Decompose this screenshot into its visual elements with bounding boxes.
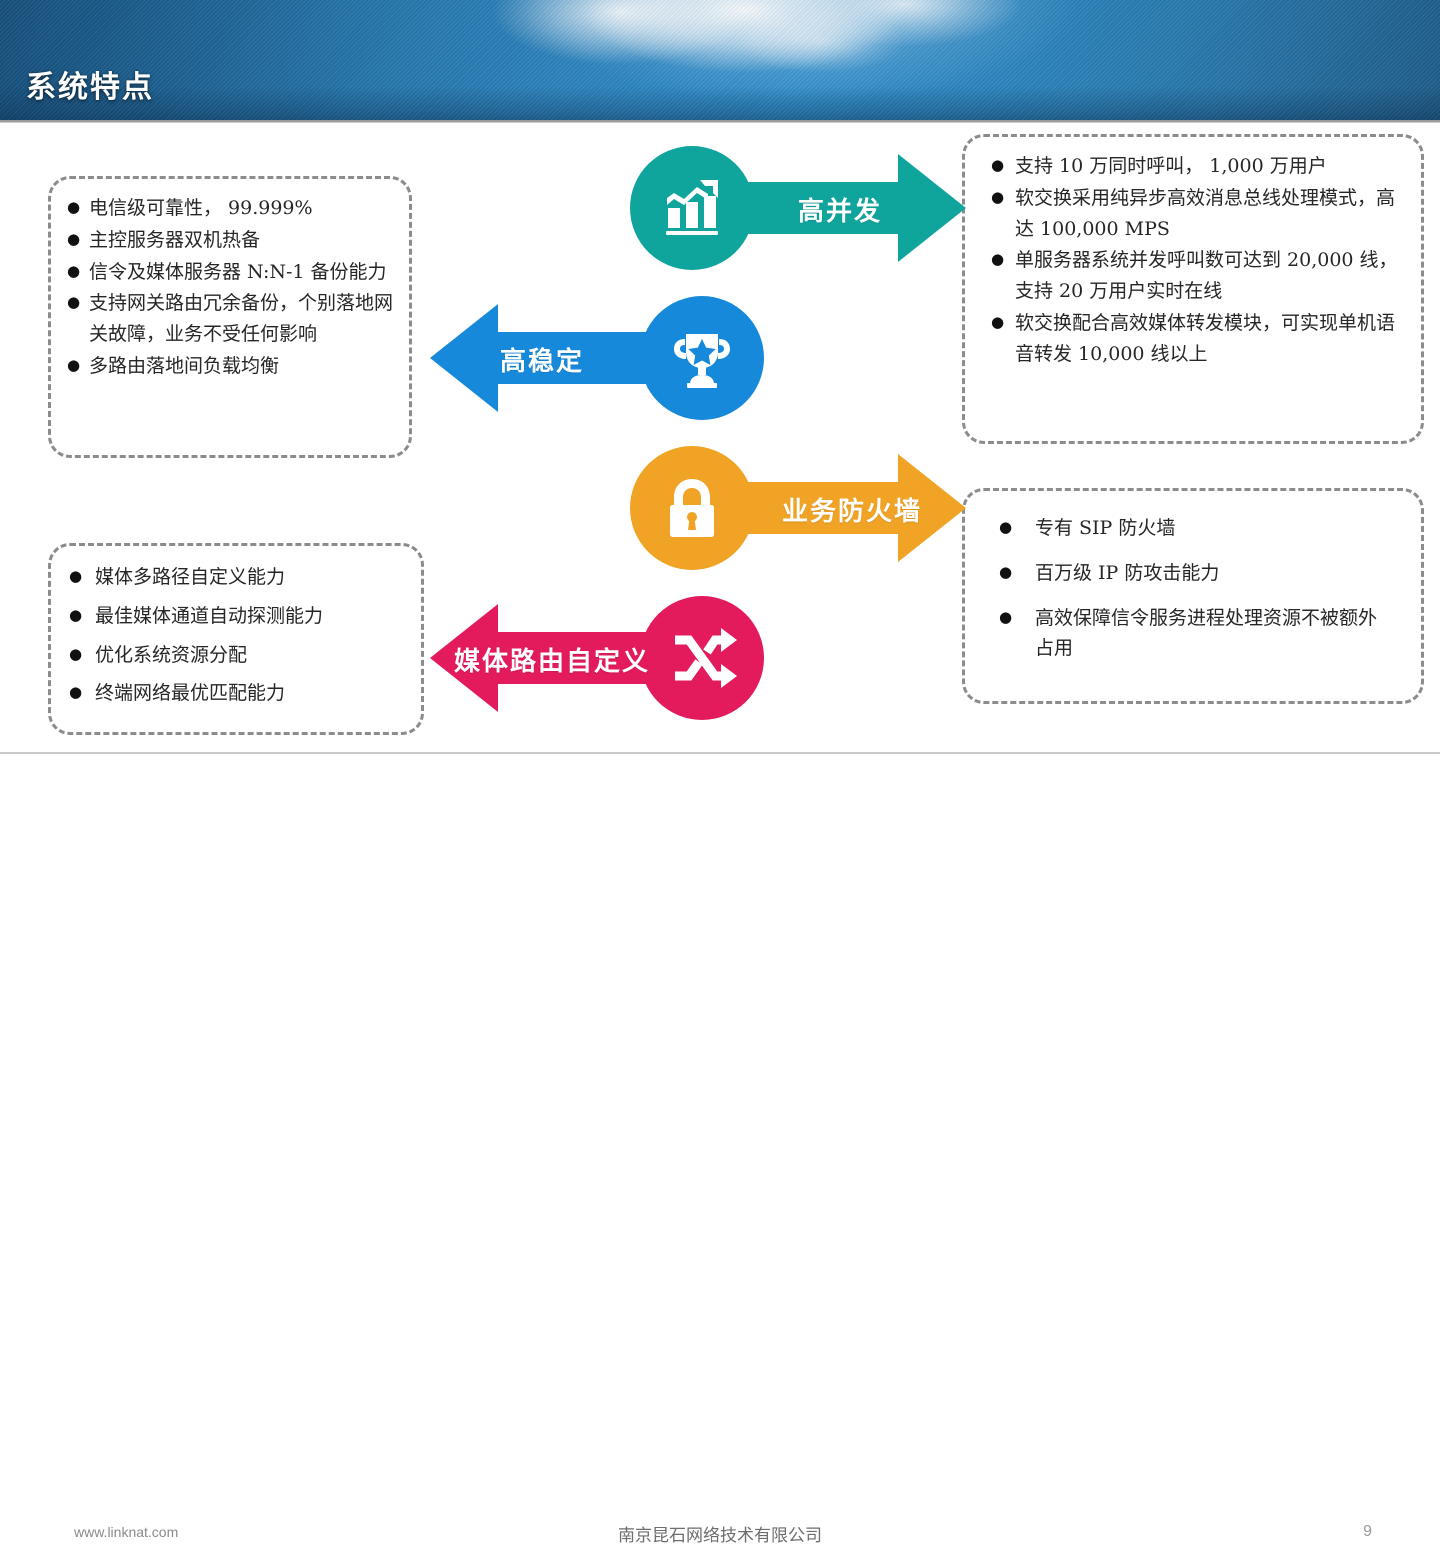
list-item-text: 多路由落地间负载均衡 [67,351,397,382]
trophy-star-icon [666,322,738,394]
lock-icon [657,473,727,543]
firewall-features-box: ●专有 SIP 防火墙 ●百万级 IP 防攻击能力 ●高效保障信令服务进程处理资… [962,488,1424,704]
slide-footer: www.linknat.com 南京昆石网络技术有限公司 9 [0,754,1440,810]
reliability-features-list: ●电信级可靠性， 99.999% ●主控服务器双机热备 ●信令及媒体服务器 N:… [51,179,409,382]
bullet-icon: ● [991,153,1004,177]
arrow-row-media-routing: 媒体路由自定义 [428,596,766,720]
list-item-text: 专有 SIP 防火墙 [1035,513,1391,544]
list-item-text: 信令及媒体服务器 N:N-1 备份能力 [67,257,397,288]
list-item-text: 软交换配合高效媒体转发模块，可实现单机语音转发 10,000 线以上 [1015,308,1403,370]
list-item: ●专有 SIP 防火墙 [999,513,1391,544]
media-routing-features-box: ● 媒体多路径自定义能力 ●最佳媒体通道自动探测能力 ●优化系统资源分配 ●终端… [48,543,424,735]
icon-circle-high-concurrency [630,146,754,270]
bullet-icon: ● [991,247,1004,271]
bullet-icon: ● [69,564,82,588]
list-item-text: 媒体多路径自定义能力 [95,562,409,593]
list-item-text: 终端网络最优匹配能力 [95,678,409,709]
arrow-label-business-firewall: 业务防火墙 [782,491,922,528]
bullet-icon: ● [991,310,1004,334]
arrow-label-high-concurrency: 高并发 [798,191,882,228]
list-item: ●多路由落地间负载均衡 [67,351,397,382]
list-item: ●单服务器系统并发呼叫数可达到 20,000 线，支持 20 万用户实时在线 [991,245,1403,307]
header-divider-rule [0,120,1440,129]
bullet-icon: ● [67,290,80,314]
bullet-icon: ● [69,603,82,627]
list-item: ● 媒体多路径自定义能力 [69,562,409,593]
list-item: ●软交换采用纯异步高效消息总线处理模式，高达 100,000 MPS [991,183,1403,245]
arrow-row-business-firewall: 业务防火墙 [630,446,966,570]
list-item: ●支持 10 万同时呼叫， 1,000 万用户 [991,151,1403,182]
reliability-features-box: ●电信级可靠性， 99.999% ●主控服务器双机热备 ●信令及媒体服务器 N:… [48,176,412,458]
firewall-features-list: ●专有 SIP 防火墙 ●百万级 IP 防攻击能力 ●高效保障信令服务进程处理资… [965,491,1421,664]
media-routing-features-list: ● 媒体多路径自定义能力 ●最佳媒体通道自动探测能力 ●优化系统资源分配 ●终端… [51,546,421,709]
growth-chart-icon [656,172,728,244]
list-item: ●高效保障信令服务进程处理资源不被额外占用 [999,603,1391,665]
list-item-text: 电信级可靠性， 99.999% [67,193,397,224]
bullet-icon: ● [999,515,1012,539]
bullet-icon: ● [67,227,80,251]
list-item-text: 主控服务器双机热备 [67,225,397,256]
list-item: ●最佳媒体通道自动探测能力 [69,601,409,632]
arrow-row-high-stability: 高稳定 [428,296,766,420]
bullet-icon: ● [991,185,1004,209]
list-item-text: 支持 10 万同时呼叫， 1,000 万用户 [1015,151,1403,182]
icon-circle-business-firewall [630,446,754,570]
slide-header-banner: 系统特点 [0,0,1440,120]
bullet-icon: ● [69,680,82,704]
footer-page-number: 9 [1363,1523,1372,1541]
list-item-text: 高效保障信令服务进程处理资源不被额外占用 [1035,603,1391,665]
bullet-icon: ● [67,353,80,377]
list-item-text: 最佳媒体通道自动探测能力 [95,601,409,632]
arrow-label-media-routing: 媒体路由自定义 [454,641,650,678]
list-item: ● 软交换配合高效媒体转发模块，可实现单机语音转发 10,000 线以上 [991,308,1403,370]
concurrency-features-box: ●支持 10 万同时呼叫， 1,000 万用户 ●软交换采用纯异步高效消息总线处… [962,134,1424,444]
bullet-icon: ● [999,560,1012,584]
list-item-text: 软交换采用纯异步高效消息总线处理模式，高达 100,000 MPS [1015,183,1403,245]
list-item: ●电信级可靠性， 99.999% [67,193,397,224]
footer-company-name: 南京昆石网络技术有限公司 [0,1521,1440,1546]
list-item: ●终端网络最优匹配能力 [69,678,409,709]
bullet-icon: ● [69,642,82,666]
list-item-text: 支持网关路由冗余备份，个别落地网关故障，业务不受任何影响 [67,288,397,350]
list-item: ●优化系统资源分配 [69,640,409,671]
bullet-icon: ● [67,259,80,283]
bullet-icon: ● [67,195,80,219]
list-item-text: 优化系统资源分配 [95,640,409,671]
concurrency-features-list: ●支持 10 万同时呼叫， 1,000 万用户 ●软交换采用纯异步高效消息总线处… [965,137,1421,369]
slide-root: 系统特点 ●电信级可靠性， 99.999% ●主控服务器双机热备 ●信令及媒体服… [0,0,1440,810]
header-shade-overlay [0,86,1440,120]
arrow-row-high-concurrency: 高并发 [630,146,966,270]
list-item-text: 单服务器系统并发呼叫数可达到 20,000 线，支持 20 万用户实时在线 [1015,245,1403,307]
list-item-text: 百万级 IP 防攻击能力 [1035,558,1391,589]
list-item: ●百万级 IP 防攻击能力 [999,558,1391,589]
shuffle-icon [665,621,739,695]
list-item: ●主控服务器双机热备 [67,225,397,256]
icon-circle-media-routing [640,596,764,720]
page-title: 系统特点 [26,62,154,106]
arrow-label-high-stability: 高稳定 [500,341,584,378]
icon-circle-high-stability [640,296,764,420]
list-item: ●支持网关路由冗余备份，个别落地网关故障，业务不受任何影响 [67,288,397,350]
list-item: ●信令及媒体服务器 N:N-1 备份能力 [67,257,397,288]
bullet-icon: ● [999,605,1012,629]
